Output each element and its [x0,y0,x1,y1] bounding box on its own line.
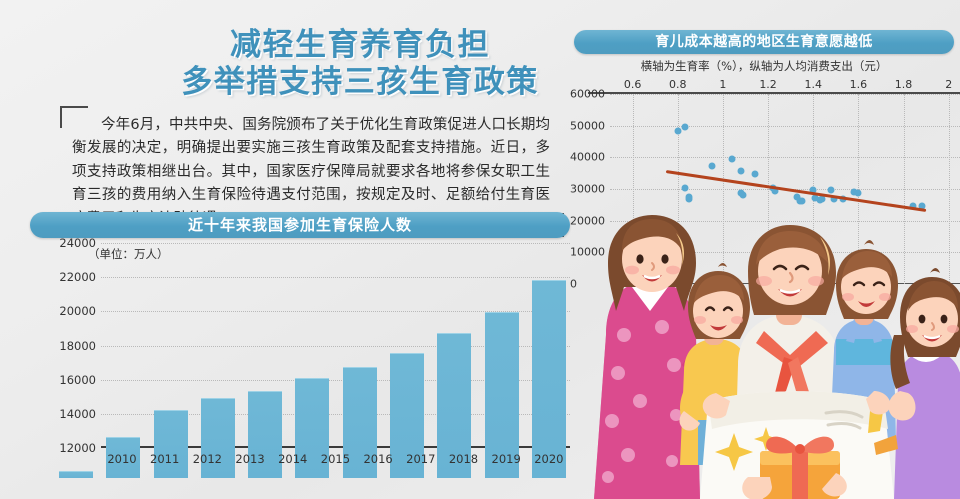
title-line-1: 减轻生育养育负担 [150,28,570,63]
bar-chart-column[interactable] [154,273,188,478]
scatter-chart-section: 育儿成本越高的地区生育意愿越低 横轴为生育率（%），纵轴为人均消费支出（元） 0… [568,30,960,74]
scatter-chart-x-tick: 0.8 [669,78,687,91]
bar-chart-x-tick: 2020 [532,452,566,466]
scatter-point[interactable] [686,195,693,202]
scatter-chart-gridline-h [610,157,960,158]
scatter-chart-x-tick: 2 [945,78,952,91]
bar-chart-gridline [101,243,570,244]
scatter-trendline [666,170,926,212]
bar-chart-x-tick: 2018 [447,452,481,466]
scatter-chart-y-tick: 40000 [570,151,605,164]
bar-chart-column[interactable] [59,273,93,478]
family-illustration [588,215,960,499]
illustration-child-purple [888,268,960,499]
scatter-point[interactable] [681,184,688,191]
scatter-chart-x-tick: 1.6 [850,78,868,91]
bar[interactable] [154,410,188,478]
scatter-point[interactable] [681,123,688,130]
bar[interactable] [532,280,566,478]
bar-chart-x-tick: 2019 [489,452,523,466]
scatter-chart-y-tick: 60000 [570,88,605,101]
bar-chart-x-tick: 2011 [148,452,182,466]
title-line-2: 多举措支持三孩生育政策 [150,65,570,100]
scatter-point[interactable] [737,167,744,174]
scatter-chart-banner-title: 育儿成本越高的地区生育意愿越低 [574,30,954,54]
page-title: 减轻生育养育负担 多举措支持三孩生育政策 [150,28,570,99]
scatter-chart-x-tick: 1.4 [804,78,822,91]
bar-chart-column[interactable] [295,273,329,478]
bar-chart-x-tick: 2017 [404,452,438,466]
scatter-chart-subtitle: 横轴为生育率（%），纵轴为人均消费支出（元） [568,58,960,74]
scatter-point[interactable] [708,162,715,169]
scatter-chart-x-tick: 1 [719,78,726,91]
bar-chart-y-tick: 24000 [59,236,96,250]
bar-chart-column[interactable] [437,273,471,478]
bar-chart-x-tick: 2012 [190,452,224,466]
scatter-point[interactable] [728,155,735,162]
bar-chart-x-tick: 2015 [318,452,352,466]
scatter-point[interactable] [740,191,747,198]
infographic-root: 减轻生育养育负担 多举措支持三孩生育政策 今年6月，中共中央、国务院颁布了关于优… [0,0,960,499]
bar-chart-x-tick: 2014 [276,452,310,466]
scatter-chart-x-tick: 1.8 [895,78,913,91]
scatter-chart-y-tick: 0 [570,278,577,291]
bar-chart-column[interactable] [532,273,566,478]
scatter-chart-gridline-h [610,126,960,127]
scatter-point[interactable] [674,128,681,135]
scatter-chart-x-tick: 0.6 [624,78,642,91]
scatter-point[interactable] [855,189,862,196]
bar-chart-x-tick: 2013 [233,452,267,466]
bar-chart-plot: 12000140001600018000200002200024000 2010… [55,243,570,478]
bar-chart-banner-title: 近十年来我国参加生育保险人数 [30,212,570,238]
bar-chart-x-axis: 2010201120122013201420152016201720182019… [101,452,570,466]
scatter-chart-y-tick: 50000 [570,119,605,132]
bar-chart-column[interactable] [248,273,282,478]
scatter-chart-y-tick: 30000 [570,183,605,196]
bar[interactable] [59,471,93,478]
bar-chart-bars [55,273,570,478]
bar-chart-column[interactable] [106,273,140,478]
scatter-point[interactable] [798,198,805,205]
bar-chart-column[interactable] [485,273,519,478]
bar-chart-column[interactable] [201,273,235,478]
scatter-chart-x-axis: 0.60.811.21.41.61.82 [610,78,960,92]
bar-chart-x-tick: 2010 [105,452,139,466]
bar-chart-column[interactable] [343,273,377,478]
scatter-chart-gridline-h [610,94,960,95]
scatter-chart-x-tick: 1.2 [759,78,777,91]
bar-chart-x-tick: 2016 [361,452,395,466]
bar-chart-column[interactable] [390,273,424,478]
scatter-point[interactable] [828,186,835,193]
scatter-point[interactable] [751,170,758,177]
bar-chart-section: 近十年来我国参加生育保险人数 （单位：万人） 12000140001600018… [30,212,570,238]
